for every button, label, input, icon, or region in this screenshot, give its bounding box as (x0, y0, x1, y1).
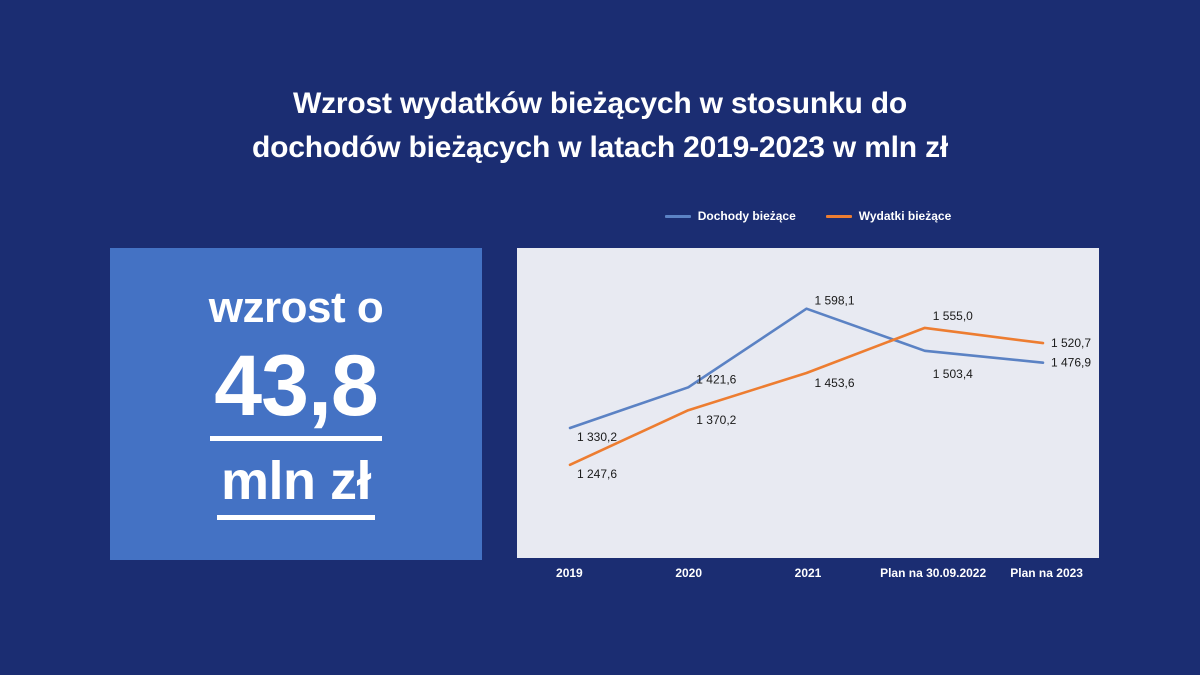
page-title-line-2: dochodów bieżących w latach 2019-2023 w … (0, 126, 1200, 170)
legend-item-wydatki[interactable]: Wydatki bieżące (826, 209, 951, 223)
x-tick-2019: 2019 (556, 566, 583, 580)
callout-lead-text: wzrost o (209, 282, 383, 334)
x-tick-2020: 2020 (675, 566, 702, 580)
legend-item-dochody[interactable]: Dochody bieżące (665, 209, 796, 223)
callout-unit-text: mln zł (217, 441, 375, 520)
legend-swatch-dochody-icon (665, 215, 691, 218)
data-label-wydatki-3: 1 555,0 (933, 309, 973, 323)
legend-label-dochody: Dochody bieżące (698, 209, 796, 223)
growth-callout-box: wzrost o 43,8 mln zł (110, 248, 482, 560)
data-label-dochody-2: 1 598,1 (815, 294, 855, 308)
data-label-wydatki-0: 1 247,6 (577, 467, 617, 481)
data-label-dochody-3: 1 503,4 (933, 367, 973, 381)
page-title: Wzrost wydatków bieżących w stosunku do … (0, 82, 1200, 170)
x-tick-plan-2023: Plan na 2023 (1010, 566, 1083, 580)
data-label-wydatki-1: 1 370,2 (696, 413, 736, 427)
data-label-dochody-1: 1 421,6 (696, 372, 736, 386)
data-label-dochody-0: 1 330,2 (577, 430, 617, 444)
legend-swatch-wydatki-icon (826, 215, 852, 218)
data-label-dochody-4: 1 476,9 (1051, 356, 1091, 370)
x-tick-plan-2022: Plan na 30.09.2022 (880, 566, 986, 580)
data-labels-dochody: 1 330,21 421,61 598,11 503,41 476,9 (577, 294, 1091, 444)
page-title-line-1: Wzrost wydatków bieżących w stosunku do (0, 82, 1200, 126)
data-labels-wydatki: 1 247,61 370,21 453,61 555,01 520,7 (577, 309, 1091, 481)
line-chart-plot-area: 1 330,21 421,61 598,11 503,41 476,9 1 24… (517, 248, 1099, 558)
callout-figure-value: 43,8 (210, 338, 381, 441)
legend-label-wydatki: Wydatki bieżące (859, 209, 951, 223)
series-line-wydatki (570, 328, 1043, 465)
x-tick-2021: 2021 (795, 566, 822, 580)
data-label-wydatki-4: 1 520,7 (1051, 336, 1091, 350)
line-chart-svg: 1 330,21 421,61 598,11 503,41 476,9 1 24… (517, 248, 1099, 558)
chart-legend: Dochody bieżące Wydatki bieżące (517, 209, 1099, 223)
data-label-wydatki-2: 1 453,6 (815, 376, 855, 390)
chart-x-axis: 2019 2020 2021 Plan na 30.09.2022 Plan n… (517, 566, 1099, 586)
